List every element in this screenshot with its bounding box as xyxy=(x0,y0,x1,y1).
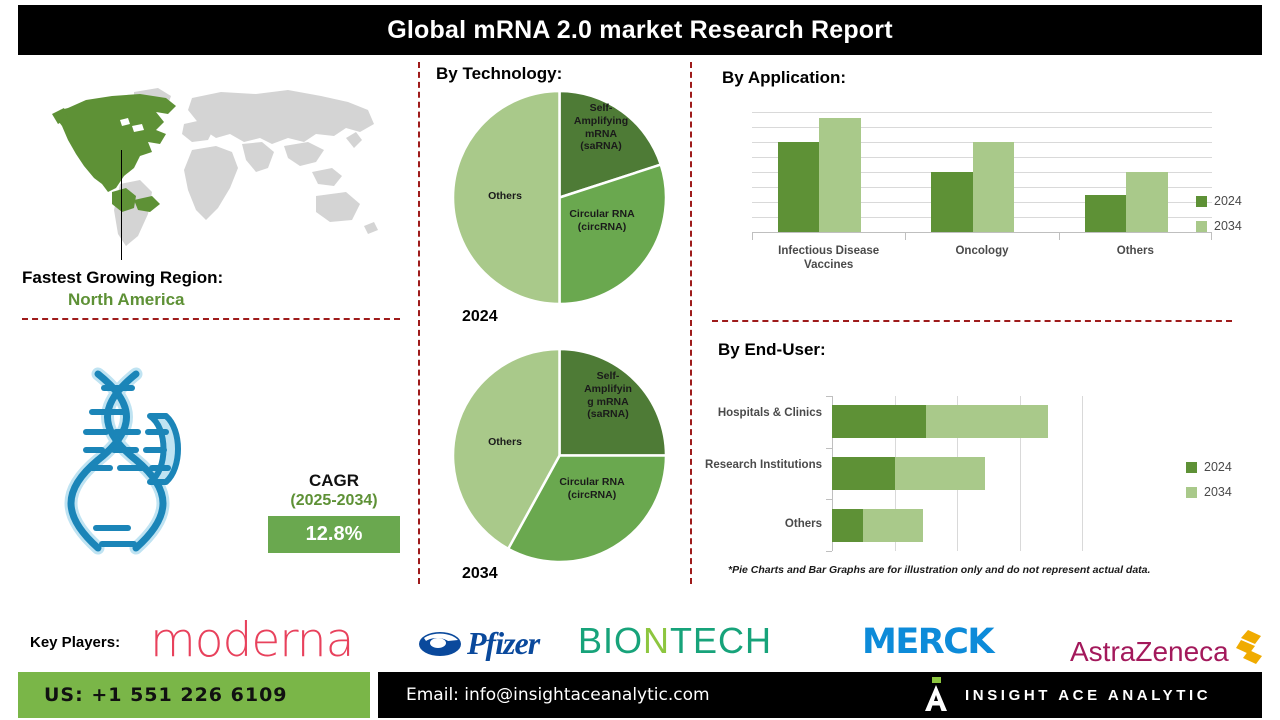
world-map xyxy=(16,80,406,260)
legend-label-2034: 2034 xyxy=(1214,219,1242,233)
pie-chart-2034-year: 2034 xyxy=(462,565,498,583)
application-section-title: By Application: xyxy=(722,68,846,88)
legend-item-2024: 2024 xyxy=(1196,194,1242,208)
bar-segment-2024 xyxy=(832,509,863,542)
gridline xyxy=(1082,396,1083,551)
brand-name: INSIGHT ACE ANALYTIC xyxy=(965,687,1211,704)
legend-item-eu-2024: 2024 xyxy=(1186,460,1232,474)
key-players-label: Key Players: xyxy=(30,634,120,651)
y-axis-tick-end xyxy=(826,551,832,552)
pie-slice xyxy=(453,91,560,304)
legend-item-2034: 2034 xyxy=(1196,219,1242,233)
gridline xyxy=(752,112,1212,113)
logo-pfizer-text: Pfizer xyxy=(467,625,539,662)
insight-ace-logo-icon xyxy=(923,677,949,713)
legend-swatch-2034 xyxy=(1196,221,1207,232)
bar-2024 xyxy=(931,172,972,232)
category-label: Others xyxy=(1059,244,1212,258)
logo-biontech-part2: O xyxy=(614,620,643,662)
phone-number: US: +1 551 226 6109 xyxy=(44,684,288,706)
bar-2024 xyxy=(1085,195,1126,233)
end-user-section-title: By End-User: xyxy=(718,340,826,360)
legend-label-eu-2034: 2034 xyxy=(1204,485,1232,499)
logo-biontech-part3: N xyxy=(643,620,670,662)
logo-moderna: moderna xyxy=(150,613,353,668)
logo-biontech: BIONTECH xyxy=(578,620,772,662)
y-axis-tick xyxy=(826,499,832,500)
category-label: Hospitals & Clinics xyxy=(702,406,822,420)
chart-footnote: *Pie Charts and Bar Graphs are for illus… xyxy=(728,564,1150,576)
vertical-divider-left xyxy=(418,62,420,584)
legend-swatch-eu-2034 xyxy=(1186,487,1197,498)
cagr-block: CAGR (2025-2034) 12.8% xyxy=(268,472,400,553)
fastest-growing-region-label: Fastest Growing Region: xyxy=(22,268,223,288)
horizontal-divider-right-panel xyxy=(712,320,1232,322)
category-label: Others xyxy=(702,517,822,531)
technology-section-title: By Technology: xyxy=(436,64,562,84)
logo-astrazeneca-text: AstraZeneca xyxy=(1070,636,1229,668)
fastest-growing-region-value: North America xyxy=(68,290,185,310)
logo-pfizer: Pfizer xyxy=(418,625,539,662)
bar-2034 xyxy=(1126,172,1167,232)
logo-biontech-part4: TECH xyxy=(670,620,772,662)
brand-lockup: INSIGHT ACE ANALYTIC xyxy=(923,677,1211,713)
map-pointer-line xyxy=(121,150,122,260)
legend-item-eu-2034: 2034 xyxy=(1186,485,1232,499)
legend-label-eu-2024: 2024 xyxy=(1204,460,1232,474)
application-bar-chart xyxy=(752,112,1212,232)
bar-segment-2034 xyxy=(895,457,986,490)
cagr-label: CAGR xyxy=(268,472,400,490)
cagr-range: (2025-2034) xyxy=(268,492,400,510)
y-axis-tick xyxy=(826,396,832,397)
legend-swatch-eu-2024 xyxy=(1186,462,1197,473)
logo-merck: MERCK xyxy=(862,622,993,662)
logo-biontech-part1: BI xyxy=(578,620,614,662)
bar-segment-2024 xyxy=(832,405,926,438)
bar-2034 xyxy=(819,118,860,232)
astrazeneca-mark-icon xyxy=(1231,628,1265,668)
email-address: Email: info@insightaceanalytic.com xyxy=(406,685,710,705)
pie-slice xyxy=(560,349,667,456)
dna-helix-icon xyxy=(62,360,222,560)
legend-swatch-2024 xyxy=(1196,196,1207,207)
application-legend: 2024 2034 xyxy=(1196,194,1242,244)
bar-segment-2034 xyxy=(863,509,922,542)
category-label: Research Institutions xyxy=(702,458,822,472)
pfizer-mark-icon xyxy=(418,627,462,661)
bar-segment-2024 xyxy=(832,457,895,490)
pie-chart-2034 xyxy=(452,348,667,563)
pie-chart-2024-year: 2024 xyxy=(462,308,498,326)
category-label: Infectious Disease Vaccines xyxy=(752,244,905,273)
category-label: Oncology xyxy=(905,244,1058,258)
horizontal-divider-left-panel xyxy=(22,318,400,320)
report-header: Global mRNA 2.0 market Research Report xyxy=(18,5,1262,55)
x-axis-tick xyxy=(905,232,906,240)
x-axis-tick xyxy=(1059,232,1060,240)
legend-label-2024: 2024 xyxy=(1214,194,1242,208)
x-axis-tick xyxy=(752,232,753,240)
bar-2034 xyxy=(973,142,1014,232)
logo-astrazeneca: AstraZeneca xyxy=(1070,628,1265,676)
bar-2024 xyxy=(778,142,819,232)
page-title: Global mRNA 2.0 market Research Report xyxy=(387,16,892,45)
end-user-legend: 2024 2034 xyxy=(1186,460,1232,510)
end-user-bar-chart xyxy=(832,396,1082,551)
cagr-value-badge: 12.8% xyxy=(268,516,400,553)
pie-chart-2024 xyxy=(452,90,667,305)
y-axis-tick xyxy=(826,448,832,449)
infographic-page: Global mRNA 2.0 market Research Report xyxy=(0,0,1280,720)
vertical-divider-right xyxy=(690,62,692,584)
contact-email-bar: Email: info@insightaceanalytic.com INSIG… xyxy=(378,672,1262,718)
bar-segment-2034 xyxy=(926,405,1048,438)
x-axis-line xyxy=(752,232,1212,233)
contact-phone-bar: US: +1 551 226 6109 xyxy=(18,672,370,718)
